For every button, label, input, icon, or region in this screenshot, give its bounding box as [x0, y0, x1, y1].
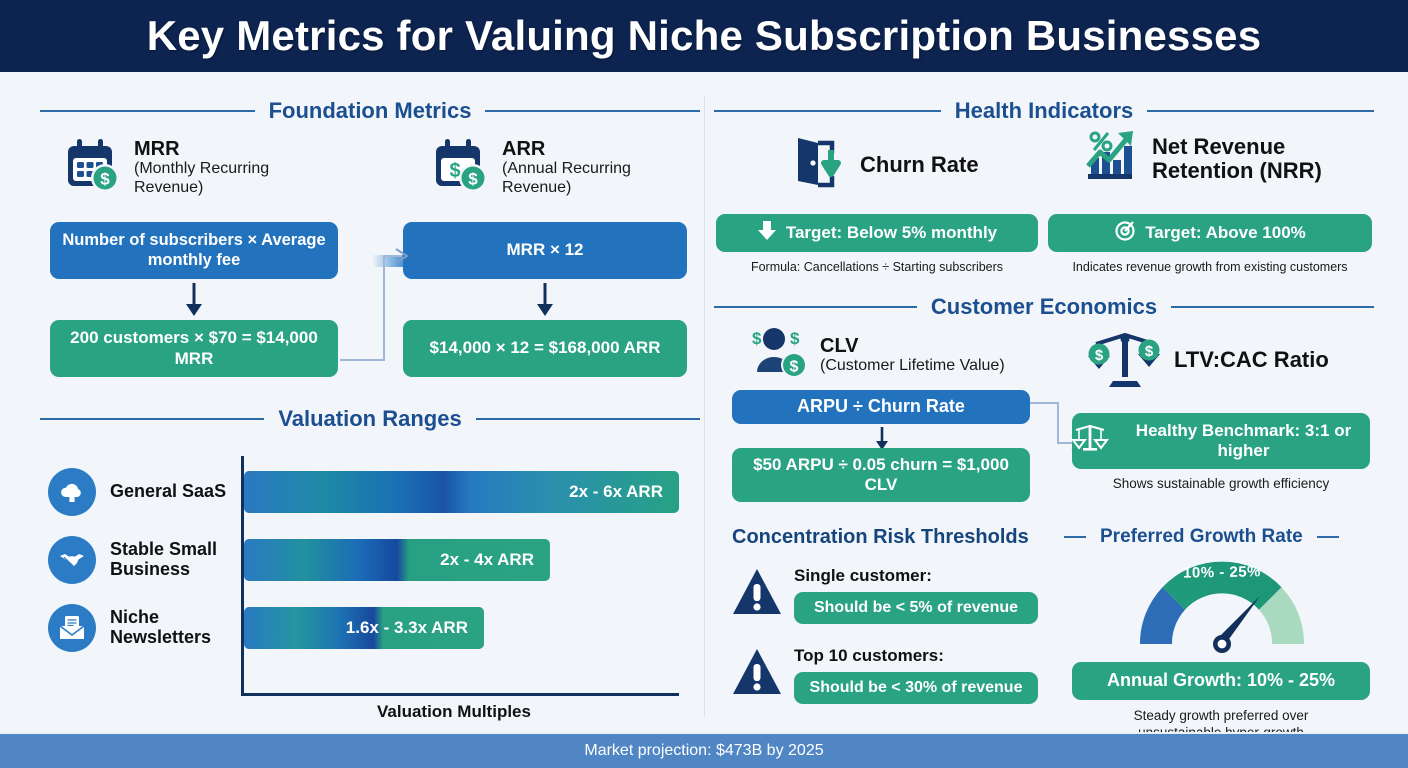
gauge-range-label: 10% - 25% [1154, 563, 1290, 582]
clv-expansion: (Customer Lifetime Value) [820, 357, 1005, 376]
rule-right [485, 110, 700, 112]
nrr-note: Indicates revenue growth from existing c… [1048, 260, 1372, 274]
clv-example-text: $50 ARPU ÷ 0.05 churn = $1,000 CLV [742, 455, 1020, 496]
valuation-label: General SaaS [110, 482, 226, 502]
section-heading-foundation-label: Foundation Metrics [269, 98, 472, 124]
rule-right [1147, 110, 1374, 112]
rule-left [1064, 536, 1086, 538]
section-heading-valuation: Valuation Ranges [40, 406, 700, 432]
calendar-dollar-icon: $ [60, 134, 124, 203]
churn-text: Churn Rate [860, 153, 979, 176]
arr-header: $ $ ARR (Annual Recurring Revenue) [428, 134, 672, 203]
ltvcac-note: Shows sustainable growth efficiency [1072, 476, 1370, 491]
rule-left [40, 110, 255, 112]
mrr-example-text: 200 customers × $70 = $14,000 MRR [60, 328, 328, 369]
ltvcac-benchmark-pill: Healthy Benchmark: 3:1 or higher [1072, 413, 1370, 469]
risk-item-top-10-customers: Top 10 customers: Should be < 30% of rev… [732, 646, 1038, 704]
bar-value-label: 1.6x - 3.3x ARR [346, 618, 468, 638]
churn-target-pill: Target: Below 5% monthly [716, 214, 1038, 252]
mrr-example-box: 200 customers × $70 = $14,000 MRR [50, 320, 338, 377]
handshake-icon [48, 536, 96, 584]
arr-example-text: $14,000 × 12 = $168,000 ARR [430, 338, 661, 358]
mrr-expansion: (Monthly Recurring Revenue) [134, 160, 309, 198]
page-footer: Market projection: $473B by 2025 [0, 732, 1408, 768]
risk-threshold-text: Should be < 5% of revenue [814, 598, 1018, 617]
risk-threshold-text: Should be < 30% of revenue [810, 678, 1023, 697]
page-header: Key Metrics for Valuing Niche Subscripti… [0, 0, 1408, 72]
open-door-exit-icon [792, 134, 850, 195]
arr-expansion: (Annual Recurring Revenue) [502, 160, 672, 198]
calendar-dollar-icon: $ $ [428, 134, 492, 203]
section-heading-economics: Customer Economics [714, 294, 1374, 320]
arr-example-box: $14,000 × 12 = $168,000 ARR [403, 320, 687, 377]
rule-left [714, 110, 941, 112]
section-heading-growth-label: Preferred Growth Rate [1100, 526, 1303, 548]
chart-x-axis [241, 693, 679, 696]
page-title: Key Metrics for Valuing Niche Subscripti… [147, 12, 1262, 60]
scale-icon [1072, 420, 1108, 461]
chart-x-axis-label: Valuation Multiples [377, 702, 531, 722]
risk-item-single-customer: Single customer: Should be < 5% of reven… [732, 566, 1038, 624]
section-heading-economics-label: Customer Economics [931, 294, 1157, 320]
nrr-title: Net Revenue Retention (NRR) [1152, 135, 1347, 181]
warning-triangle-icon [732, 646, 782, 703]
valuation-label: Niche Newsletters [110, 608, 220, 648]
ltvcac-title: LTV:CAC Ratio [1174, 348, 1329, 371]
svg-text:$: $ [100, 170, 110, 189]
clv-abbr: CLV [820, 336, 1005, 357]
bar-value-label: 2x - 4x ARR [440, 550, 534, 570]
risk-item-body: Top 10 customers: Should be < 30% of rev… [794, 646, 1038, 704]
risk-threshold-pill: Should be < 5% of revenue [794, 592, 1038, 624]
risk-threshold-pill: Should be < 30% of revenue [794, 672, 1038, 704]
svg-text:$: $ [752, 329, 762, 348]
clv-header: $ $ $ CLV (Customer Lifetime Value) [744, 324, 1005, 387]
risk-label: Top 10 customers: [794, 646, 1038, 666]
rule-right [1317, 536, 1339, 538]
mrr-formula-box: Number of subscribers × Average monthly … [50, 222, 338, 279]
mrr-abbr: MRR [134, 139, 309, 160]
mrr-header: $ MRR (Monthly Recurring Revenue) [60, 134, 309, 203]
mrr-formula-text: Number of subscribers × Average monthly … [60, 231, 328, 271]
bar-niche-newsletters: 1.6x - 3.3x ARR [244, 607, 484, 649]
right-column: Health Indicators Churn Rate [714, 86, 1374, 736]
svg-text:$: $ [1095, 347, 1104, 364]
ltvcac-benchmark-text: Healthy Benchmark: 3:1 or higher [1117, 421, 1370, 462]
bar-general-saas: 2x - 6x ARR [244, 471, 679, 513]
target-check-icon [1114, 219, 1136, 246]
section-heading-health-label: Health Indicators [955, 98, 1133, 124]
risk-item-body: Single customer: Should be < 5% of reven… [794, 566, 1038, 624]
arr-text: ARR (Annual Recurring Revenue) [502, 139, 672, 198]
footer-text: Market projection: $473B by 2025 [584, 742, 823, 760]
mrr-down-arrow-icon [182, 282, 206, 323]
growth-chart-percent-icon [1080, 126, 1142, 191]
nrr-target-pill: Target: Above 100% [1048, 214, 1372, 252]
left-column: Foundation Metrics $ [40, 86, 700, 736]
valuation-bar-chart: General SaaS Stable Small Business [40, 446, 700, 716]
column-divider [704, 96, 705, 716]
rule-right [476, 418, 700, 420]
section-heading-health: Health Indicators [714, 98, 1374, 124]
arr-formula-text: MRR × 12 [507, 240, 584, 260]
valuation-label: Stable Small Business [110, 540, 220, 580]
bar-stable-small-business: 2x - 4x ARR [244, 539, 550, 581]
newsletter-envelope-icon [48, 604, 96, 652]
customer-value-icon: $ $ $ [744, 324, 810, 387]
valuation-row-stable-small-business: Stable Small Business [48, 536, 220, 584]
clv-example-box: $50 ARPU ÷ 0.05 churn = $1,000 CLV [732, 448, 1030, 502]
growth-rate-text: Annual Growth: 10% - 25% [1107, 670, 1335, 692]
mrr-text: MRR (Monthly Recurring Revenue) [134, 139, 309, 198]
clv-formula-text: ARPU ÷ Churn Rate [797, 396, 965, 418]
ltvcac-text: LTV:CAC Ratio [1174, 348, 1329, 371]
rule-left [40, 418, 264, 420]
risk-label: Single customer: [794, 566, 1038, 586]
ltvcac-header: $ $ LTV:CAC Ratio [1086, 326, 1329, 393]
churn-formula-note: Formula: Cancellations ÷ Starting subscr… [716, 260, 1038, 274]
section-heading-valuation-label: Valuation Ranges [278, 406, 461, 432]
nrr-text: Net Revenue Retention (NRR) [1152, 135, 1347, 181]
arr-formula-box: MRR × 12 [403, 222, 687, 279]
churn-target-text: Target: Below 5% monthly [786, 223, 997, 243]
svg-text:$: $ [468, 170, 478, 189]
arr-abbr: ARR [502, 139, 672, 160]
valuation-row-niche-newsletters: Niche Newsletters [48, 604, 220, 652]
churn-title: Churn Rate [860, 153, 979, 176]
balance-scale-icon: $ $ [1086, 326, 1164, 393]
section-heading-growth: Preferred Growth Rate [1064, 526, 1374, 548]
growth-rate-pill: Annual Growth: 10% - 25% [1072, 662, 1370, 700]
warning-triangle-icon [732, 566, 782, 623]
infographic-page: Key Metrics for Valuing Niche Subscripti… [0, 0, 1408, 768]
svg-text:$: $ [1145, 343, 1154, 360]
cloud-upload-icon [48, 468, 96, 516]
nrr-header: Net Revenue Retention (NRR) [1080, 126, 1347, 191]
svg-text:$: $ [449, 160, 460, 182]
section-heading-foundation: Foundation Metrics [40, 98, 700, 124]
svg-text:$: $ [790, 359, 799, 376]
nrr-target-text: Target: Above 100% [1145, 223, 1306, 243]
rule-left [714, 306, 917, 308]
section-heading-risk: Concentration Risk Thresholds [732, 526, 1029, 549]
clv-formula-box: ARPU ÷ Churn Rate [732, 390, 1030, 424]
svg-text:$: $ [790, 329, 800, 348]
arr-down-arrow-icon [533, 282, 557, 323]
clv-text: CLV (Customer Lifetime Value) [820, 336, 1005, 376]
churn-header: Churn Rate [792, 134, 979, 195]
growth-note-line1: Steady growth preferred over [1072, 708, 1370, 723]
down-arrow-icon [757, 219, 777, 246]
valuation-row-general-saas: General SaaS [48, 468, 226, 516]
bar-value-label: 2x - 6x ARR [569, 482, 663, 502]
rule-right [1171, 306, 1374, 308]
